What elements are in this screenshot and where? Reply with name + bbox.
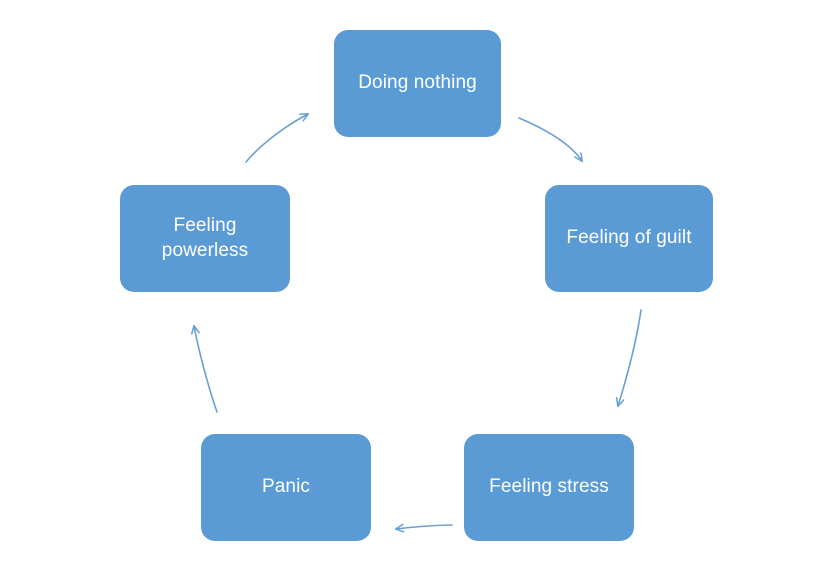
node-feeling-of-guilt[interactable]: Feeling of guilt: [545, 185, 713, 292]
arrow-feeling-stress-to-panic: [396, 525, 452, 529]
node-doing-nothing-label: Doing nothing: [358, 71, 477, 95]
node-feeling-stress[interactable]: Feeling stress: [464, 434, 634, 541]
node-feeling-of-guilt-label: Feeling of guilt: [566, 226, 691, 250]
arrow-panic-to-feeling-powerless: [194, 326, 217, 412]
node-panic[interactable]: Panic: [201, 434, 371, 541]
node-feeling-powerless-label: Feeling powerless: [162, 214, 248, 263]
node-feeling-stress-label: Feeling stress: [489, 475, 609, 499]
node-doing-nothing[interactable]: Doing nothing: [334, 30, 501, 137]
arrow-doing-nothing-to-feeling-of-guilt: [519, 118, 582, 161]
arrow-feeling-of-guilt-to-feeling-stress: [618, 310, 641, 406]
arrow-feeling-powerless-to-doing-nothing: [246, 114, 308, 162]
node-feeling-powerless[interactable]: Feeling powerless: [120, 185, 290, 292]
diagram-canvas: Doing nothing Feeling of guilt Feeling s…: [0, 0, 838, 578]
node-panic-label: Panic: [262, 475, 310, 499]
